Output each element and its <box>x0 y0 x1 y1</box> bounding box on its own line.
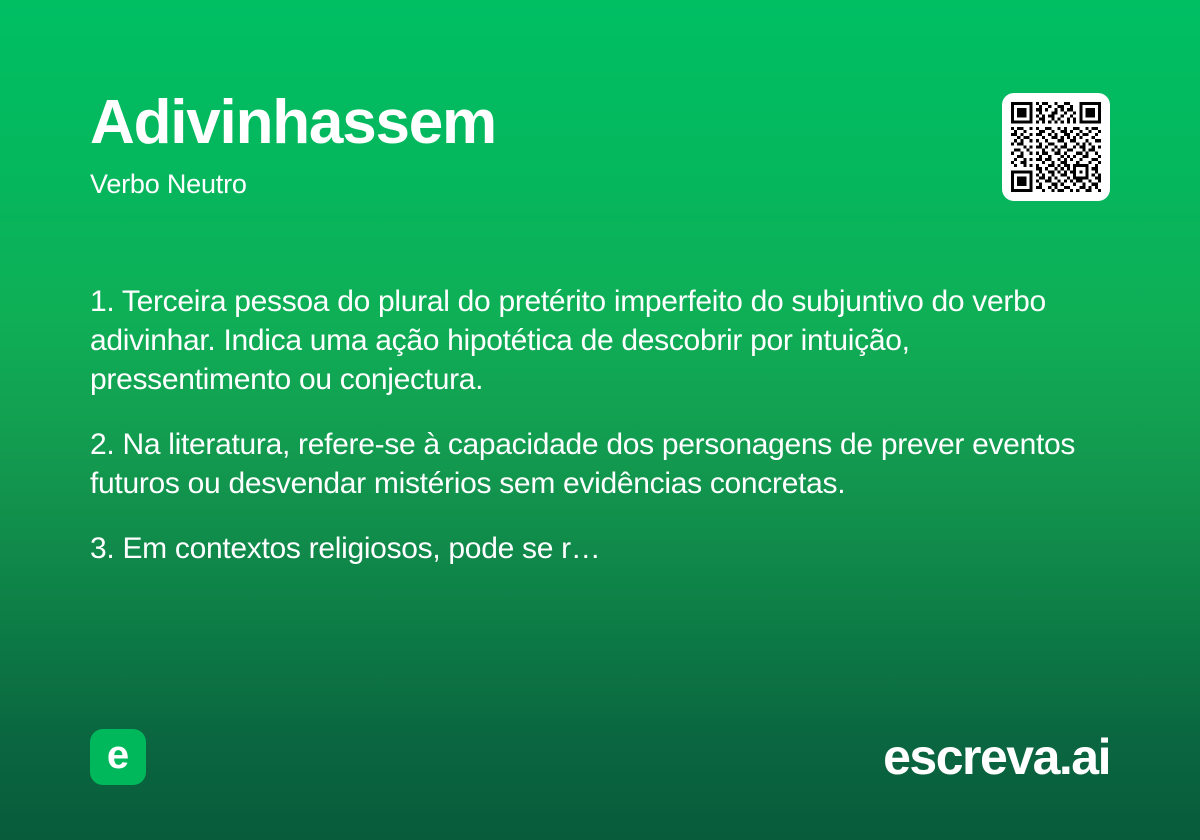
word-definition-card: Adivinhassem Verbo Neutro <box>0 0 1200 840</box>
definition-item: 1. Terceira pessoa do plural do pretérit… <box>90 282 1100 399</box>
definitions-list: 1. Terceira pessoa do plural do pretérit… <box>90 282 1100 568</box>
page-title: Adivinhassem <box>90 90 1110 155</box>
qr-code-icon <box>1011 102 1101 192</box>
card-header: Adivinhassem Verbo Neutro <box>90 90 1110 220</box>
qr-code[interactable] <box>1002 93 1110 201</box>
brand-wordmark: escreva.ai <box>883 732 1110 782</box>
card-footer: e escreva.ai <box>90 729 1110 785</box>
escreva-logo-icon: e <box>90 729 146 785</box>
definition-item: 3. Em contextos religiosos, pode se r… <box>90 529 1100 568</box>
word-class-subtitle: Verbo Neutro <box>90 169 1110 200</box>
definition-item: 2. Na literatura, refere-se à capacidade… <box>90 425 1100 503</box>
